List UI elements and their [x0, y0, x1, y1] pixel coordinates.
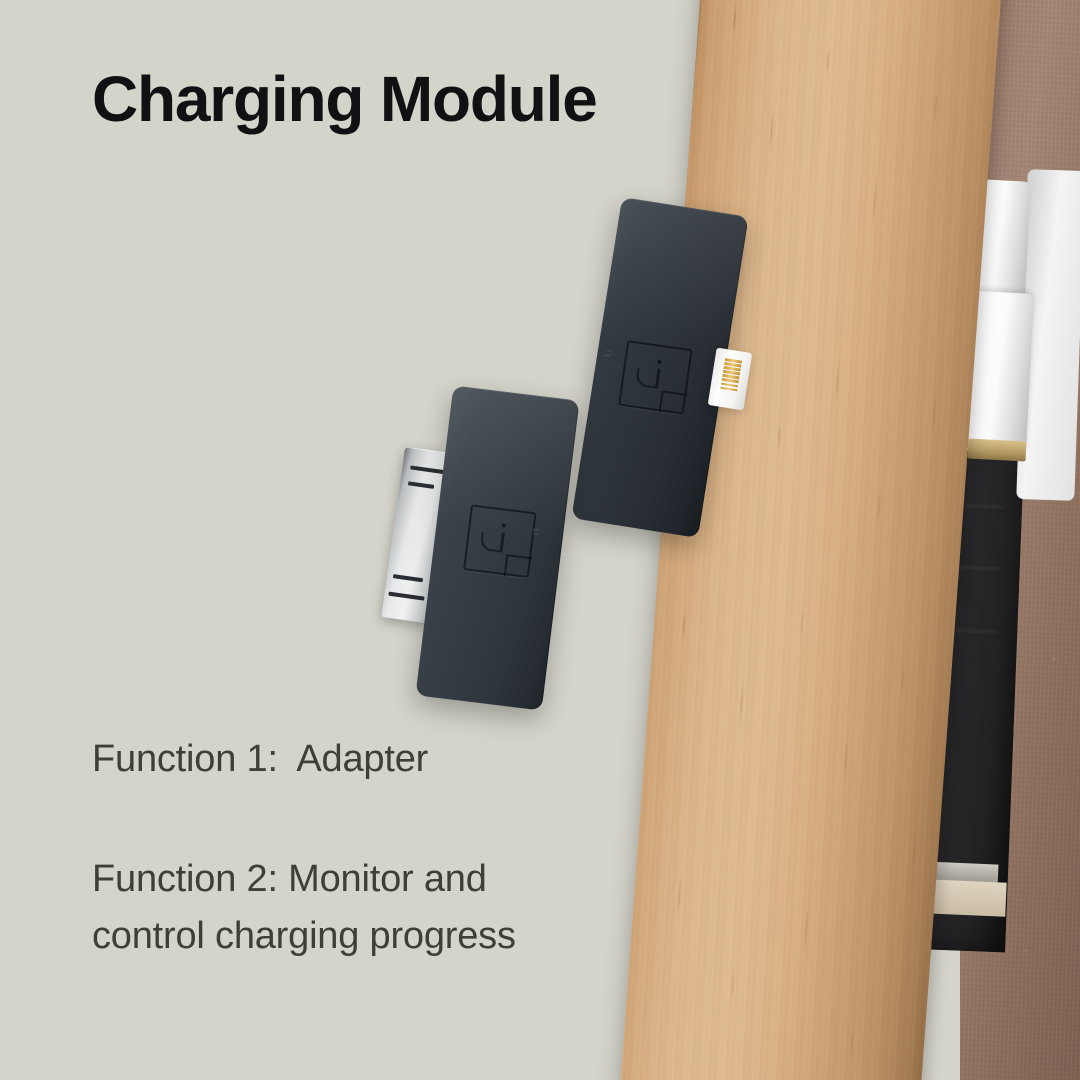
brand-logo-icon	[618, 340, 693, 415]
cable-gold-contact	[968, 438, 1027, 461]
brand-wordmark: Li	[603, 349, 613, 358]
page-title: Charging Module	[92, 62, 597, 136]
lightning-pins	[720, 358, 742, 392]
brand-wordmark: Li	[531, 528, 541, 536]
feature-line-2: Function 2: Monitor and	[92, 858, 487, 901]
feature-line-3: control charging progress	[92, 915, 516, 958]
product-feature-card: Li Li Charging Module Function 1: Adapte…	[0, 0, 1080, 1080]
feature-line-1: Function 1: Adapter	[92, 738, 428, 781]
brand-logo-icon	[463, 504, 537, 578]
